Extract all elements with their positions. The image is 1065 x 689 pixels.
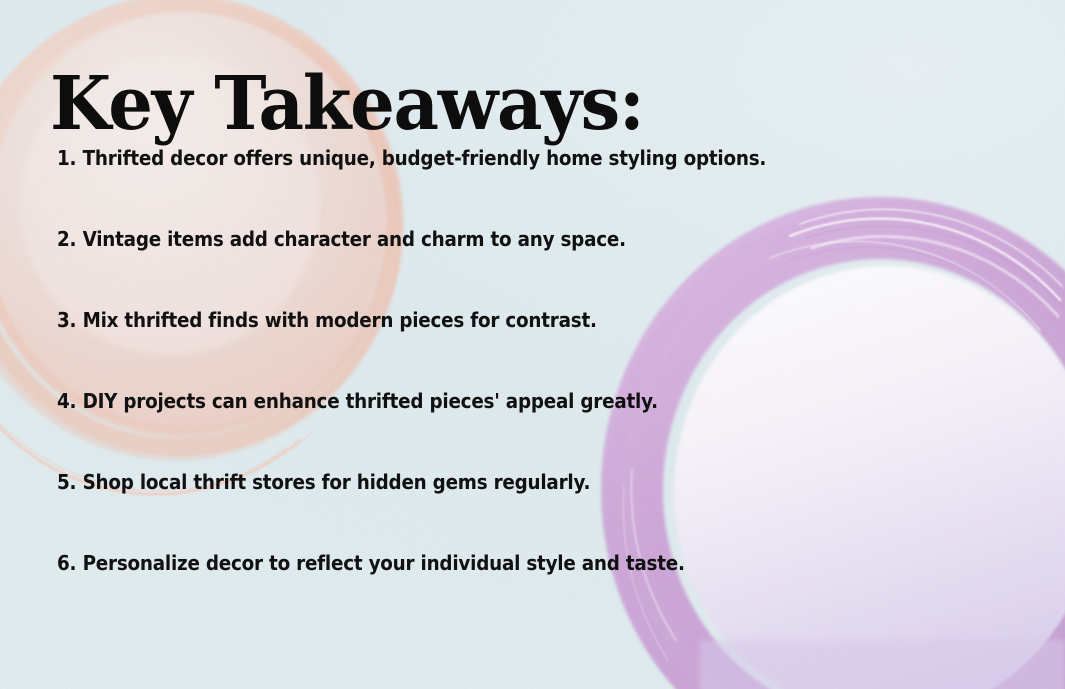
list-item: 3. Mix thrifted finds with modern pieces… bbox=[57, 310, 941, 391]
takeaways-list: 1. Thrifted decor offers unique, budget-… bbox=[57, 148, 1045, 634]
key-takeaways-graphic: Key Takeaways: 1. Thrifted decor offers … bbox=[0, 0, 1065, 689]
list-item-number: 5. bbox=[57, 472, 76, 493]
list-item: 1. Thrifted decor offers unique, budget-… bbox=[57, 148, 941, 229]
list-item-number: 1. bbox=[57, 148, 76, 169]
list-item: 2. Vintage items add character and charm… bbox=[57, 229, 941, 310]
list-item-number: 3. bbox=[57, 310, 76, 331]
list-item: 4. DIY projects can enhance thrifted pie… bbox=[57, 391, 941, 472]
list-item-number: 2. bbox=[57, 229, 76, 250]
list-item-text: Mix thrifted finds with modern pieces fo… bbox=[83, 310, 597, 331]
content-layer: Key Takeaways: 1. Thrifted decor offers … bbox=[0, 0, 1065, 689]
list-item-text: Personalize decor to reflect your indivi… bbox=[83, 553, 685, 574]
list-item-number: 4. bbox=[57, 391, 76, 412]
list-item-text: Vintage items add character and charm to… bbox=[83, 229, 626, 250]
list-item: 5. Shop local thrift stores for hidden g… bbox=[57, 472, 941, 553]
list-item-text: Thrifted decor offers unique, budget-fri… bbox=[83, 148, 767, 169]
page-title: Key Takeaways: bbox=[50, 67, 644, 142]
list-item: 6. Personalize decor to reflect your ind… bbox=[57, 553, 941, 634]
list-item-text: Shop local thrift stores for hidden gems… bbox=[83, 472, 591, 493]
list-item-text: DIY projects can enhance thrifted pieces… bbox=[83, 391, 658, 412]
list-item-number: 6. bbox=[57, 553, 76, 574]
